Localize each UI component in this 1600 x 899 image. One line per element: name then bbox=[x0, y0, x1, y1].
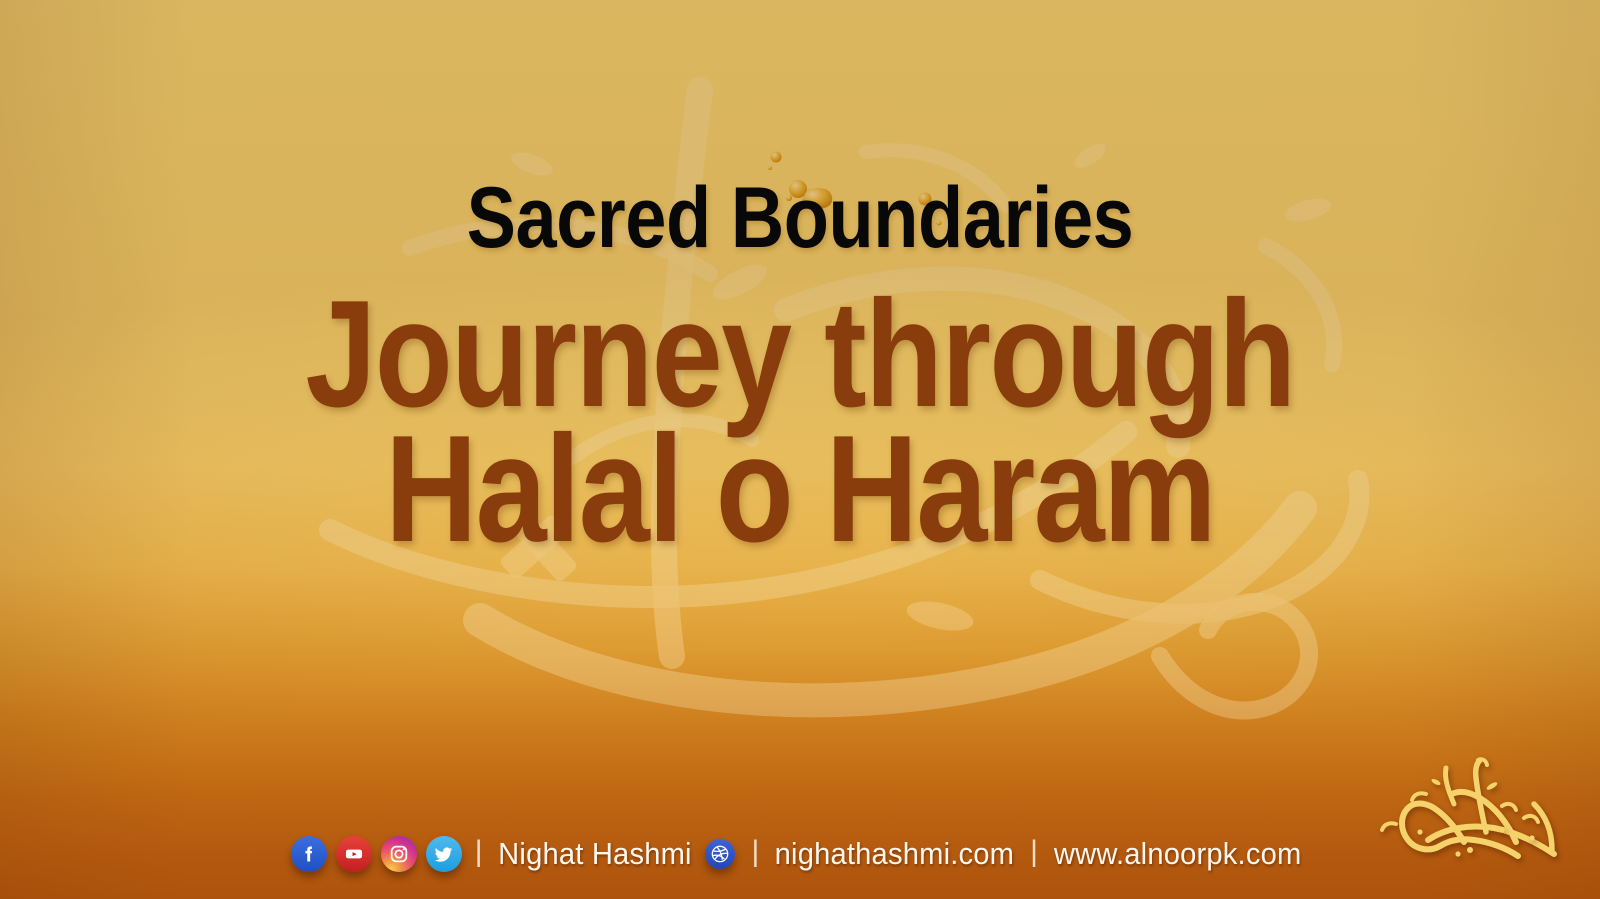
youtube-icon[interactable] bbox=[336, 836, 372, 872]
footer-separator-2: | bbox=[751, 837, 759, 867]
slide-canvas: Sacred Boundaries Journey through Halal … bbox=[0, 0, 1600, 899]
dribbble-icon[interactable] bbox=[705, 839, 735, 869]
headline-line-2: Halal o Haram bbox=[128, 419, 1472, 560]
footer-website-secondary[interactable]: www.alnoorpk.com bbox=[1054, 836, 1302, 872]
footer-separator-1: | bbox=[475, 837, 483, 867]
twitter-icon[interactable] bbox=[426, 836, 462, 872]
facebook-icon[interactable] bbox=[291, 836, 327, 872]
footer-website-primary[interactable]: nighathashmi.com bbox=[775, 836, 1014, 872]
footer-bar: | Nighat Hashmi | nighathashmi.com | www… bbox=[0, 831, 1600, 877]
instagram-icon[interactable] bbox=[381, 836, 417, 872]
eyebrow-text: Sacred Boundaries bbox=[112, 178, 1488, 260]
title-block: Sacred Boundaries Journey through Halal … bbox=[0, 178, 1600, 560]
footer-separator-3: | bbox=[1030, 837, 1038, 867]
footer-handle[interactable]: Nighat Hashmi bbox=[498, 836, 692, 872]
